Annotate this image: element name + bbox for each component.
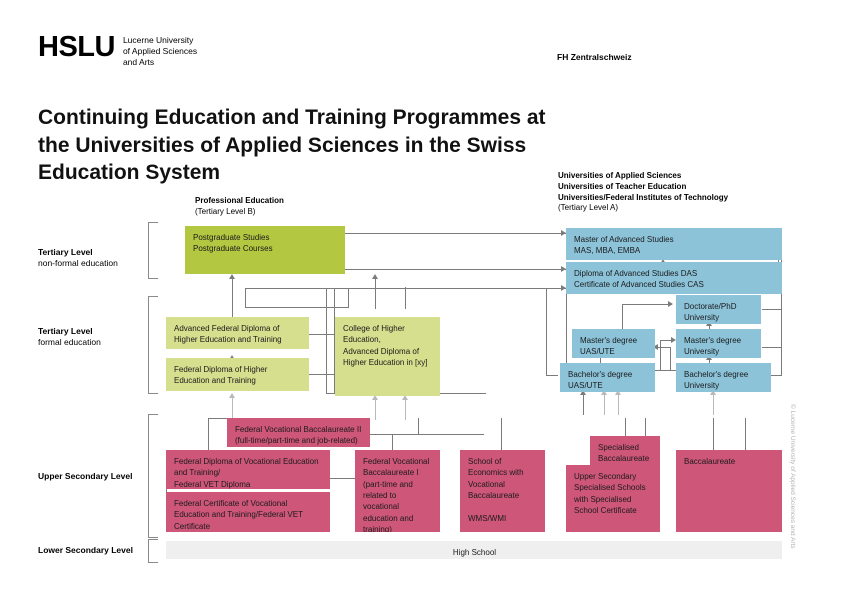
connector-pg-das-h xyxy=(344,269,566,270)
level-label-tertiary-formal-name: Tertiary Level xyxy=(38,326,101,337)
box-doctorate[interactable]: Doctorate/PhD University xyxy=(676,295,761,324)
level-label-tertiary-formal-sub: formal education xyxy=(38,337,101,348)
logo-subtitle-line3: and Arts xyxy=(123,57,197,68)
connector-left-edge-right-col xyxy=(546,288,547,376)
level-label-tertiary-non-formal-sub: non-formal education xyxy=(38,258,118,269)
level-label-upper-secondary: Upper Secondary Level xyxy=(38,471,132,482)
copyright-notice: © Lucerne University of Applied Sciences… xyxy=(789,404,796,574)
box-vet-diploma[interactable]: Federal Diploma of Vocational Education … xyxy=(166,450,330,489)
connector-fvb1-riser xyxy=(392,434,393,450)
hslu-logo: HSLU Lucerne University of Applied Scien… xyxy=(38,33,197,68)
connector-buas-bus-h xyxy=(546,288,568,289)
bracket-lower-secondary xyxy=(148,539,158,563)
column-header-universities-line1: Universities of Applied Sciences xyxy=(558,171,728,182)
arrow-masteruas-doc xyxy=(668,301,673,307)
box-bachelor-university[interactable]: Bachelor's degree University xyxy=(676,363,771,392)
bracket-tertiary-formal xyxy=(148,296,158,394)
connector-riser-c xyxy=(326,288,327,394)
connector-masteruas-doc-v xyxy=(622,304,623,332)
level-label-upper-secondary-name: Upper Secondary Level xyxy=(38,471,132,482)
connector-left-edge-bot xyxy=(546,375,558,376)
connector-vetdip-up xyxy=(208,418,209,450)
box-high-school[interactable]: High School xyxy=(166,541,782,559)
column-header-universities-subtitle: (Tertiary Level A) xyxy=(558,203,728,214)
box-upper-secondary-specialised[interactable]: Upper Secondary Specialised Schools with… xyxy=(566,465,660,532)
box-school-economics[interactable]: School of Economics with Vocational Bacc… xyxy=(460,450,545,532)
connector-doc-right xyxy=(762,309,782,310)
level-label-lower-secondary: Lower Secondary Level xyxy=(38,545,133,556)
box-postgraduate[interactable]: Postgraduate StudiesPostgraduate Courses xyxy=(185,226,345,274)
column-header-professional-education: Professional Education (Tertiary Level B… xyxy=(195,196,284,218)
connector-up-college-a xyxy=(375,398,376,420)
connector-econ-riser xyxy=(501,418,502,450)
connector-fvb2-right xyxy=(370,434,484,435)
connector-up-buas xyxy=(583,393,584,415)
connector-up-college-b xyxy=(405,398,406,420)
connector-advfed-stub xyxy=(308,334,335,335)
connector-riser-d xyxy=(405,287,406,309)
column-header-universities-line3: Universities/Federal Institutes of Techn… xyxy=(558,193,728,204)
connector-riser-f xyxy=(232,277,233,317)
logo-wordmark: HSLU xyxy=(38,33,115,62)
page-title: Continuing Education and Training Progra… xyxy=(38,104,558,187)
connector-bac-riser-b xyxy=(745,418,746,450)
box-baccalaureate[interactable]: Baccalaureate xyxy=(676,450,782,532)
diagram-page: HSLU Lucerne University of Applied Scien… xyxy=(0,0,841,595)
fh-zentralschweiz-label: FH Zentralschweiz xyxy=(557,52,632,62)
box-das-cas[interactable]: Diploma of Advanced Studies DASCertifica… xyxy=(566,262,782,294)
connector-pg-mas-h xyxy=(344,233,566,234)
box-specialised-baccalaureate[interactable]: Specialised Baccalaureate xyxy=(590,436,660,465)
box-master-advanced-studies[interactable]: Master of Advanced StudiesMAS, MBA, EMBA xyxy=(566,228,782,260)
connector-riser-b xyxy=(348,288,349,308)
level-label-tertiary-formal: Tertiary Level formal education xyxy=(38,326,101,349)
level-label-tertiary-non-formal-name: Tertiary Level xyxy=(38,247,118,258)
arrow-up-fed xyxy=(229,393,235,398)
connector-master-cross-v1 xyxy=(660,340,661,370)
connector-up-buas-2 xyxy=(604,393,605,415)
connector-muni-right xyxy=(762,347,782,348)
box-college-higher-education[interactable]: College of Higher Education,Advanced Dip… xyxy=(335,317,440,396)
connector-riser-e xyxy=(375,277,376,309)
arrow-advfed-to-pg xyxy=(229,274,235,279)
box-fvb1[interactable]: Federal Vocational Baccalaureate I(part-… xyxy=(355,450,440,532)
connector-up-buni xyxy=(713,393,714,415)
box-master-university[interactable]: Master's degree University xyxy=(676,329,761,358)
box-advanced-federal-diploma[interactable]: Advanced Federal Diploma of Higher Educa… xyxy=(166,317,309,349)
connector-buas-bus-v xyxy=(566,288,567,366)
connector-bac-riser-a xyxy=(713,418,714,450)
bracket-upper-secondary xyxy=(148,414,158,538)
logo-subtitle-line1: Lucerne University xyxy=(123,35,197,46)
logo-subtitle: Lucerne University of Applied Sciences a… xyxy=(123,33,197,68)
connector-masteruas-doc-h xyxy=(622,304,672,305)
connector-vetdip-fvb1 xyxy=(330,478,355,479)
bracket-tertiary-non-formal xyxy=(148,222,158,279)
connector-master-cross-l xyxy=(656,347,670,348)
connector-up-fed xyxy=(232,396,233,418)
connector-fvb2-riser xyxy=(418,418,419,434)
level-label-lower-secondary-name: Lower Secondary Level xyxy=(38,545,133,556)
column-header-professional-subtitle: (Tertiary Level B) xyxy=(195,207,284,218)
arrow-college-to-pg xyxy=(372,274,378,279)
connector-vetdip-up-h xyxy=(208,418,228,419)
box-fvb2[interactable]: Federal Vocational Baccalaureate II(full… xyxy=(227,418,370,447)
connector-master-cross-v2 xyxy=(670,347,671,370)
column-header-professional-title: Professional Education xyxy=(195,196,284,207)
logo-subtitle-line2: of Applied Sciences xyxy=(123,46,197,57)
connector-riser-a xyxy=(245,288,246,308)
box-master-uas[interactable]: Master's degree UAS/UTE xyxy=(572,329,655,358)
connector-up-buas-3 xyxy=(618,393,619,415)
connector-specbac-riser xyxy=(625,418,626,436)
box-federal-diploma[interactable]: Federal Diploma of Higher Education and … xyxy=(166,358,309,391)
column-header-universities-line2: Universities of Teacher Education xyxy=(558,182,728,193)
box-bachelor-uas[interactable]: Bachelor's degree UAS/UTE xyxy=(560,363,655,392)
level-label-tertiary-non-formal: Tertiary Level non-formal education xyxy=(38,247,118,270)
box-vet-certificate[interactable]: Federal Certificate of Vocational Educat… xyxy=(166,492,330,532)
connector-fed-stub xyxy=(308,374,335,375)
column-header-universities: Universities of Applied Sciences Univers… xyxy=(558,171,728,214)
